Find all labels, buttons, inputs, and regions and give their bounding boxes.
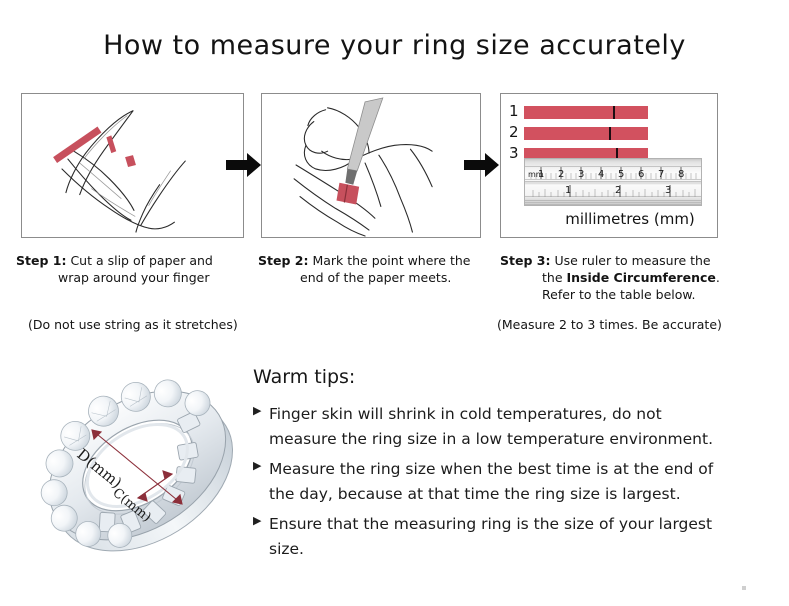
ruler-cm-tick-label: 4	[598, 169, 604, 180]
step-3-line1: Use ruler to measure the	[554, 253, 710, 268]
step-1-note: (Do not use string as it stretches)	[28, 317, 238, 332]
step-2-label: Step 2:	[258, 253, 308, 268]
step-3-note: (Measure 2 to 3 times. Be accurate)	[497, 317, 722, 332]
hand-with-paper-slip-icon	[22, 94, 243, 237]
ruler-inch-tick-label: 1	[565, 185, 571, 196]
arrow-step2-to-step3-icon	[464, 152, 500, 178]
strip-bar	[524, 106, 648, 119]
bullet-triangle-icon: ▶	[253, 512, 269, 526]
warm-tips-section: Warm tips: ▶ Finger skin will shrink in …	[253, 366, 733, 567]
tip-list-item: ▶ Measure the ring size when the best ti…	[253, 457, 733, 507]
ruler-cm-tick-label: 2	[558, 169, 564, 180]
tip-list-item: ▶ Ensure that the measuring ring is the …	[253, 512, 733, 562]
pen-shape	[345, 98, 382, 185]
ruler-cm-tick-label: 1	[538, 169, 544, 180]
strip-bar	[524, 127, 648, 140]
ruler-cm-tick-label: 8	[678, 169, 684, 180]
bullet-triangle-icon: ▶	[253, 457, 269, 471]
arrow-step1-to-step2-icon	[226, 152, 262, 178]
strip-number: 3	[509, 147, 519, 160]
step-2-line2: end of the paper meets.	[258, 269, 493, 286]
ruler-cm-tick-label: 5	[618, 169, 624, 180]
step-2-illustration-panel	[261, 93, 481, 238]
ring-diagram: D(mm) C(mm)	[32, 352, 247, 584]
ruler-inch-tick-label: 2	[615, 185, 621, 196]
inside-circumference-emphasis: Inside Circumference	[567, 270, 716, 285]
ruler-unit-label: millimetres (mm)	[501, 210, 718, 228]
ruler-inch-tick-label: 3	[665, 185, 671, 196]
ruler-graphic: mm 1 2 3 4 5 6 7 8 1 2 3	[524, 158, 702, 206]
step-3-line3: Refer to the table below.	[500, 286, 745, 303]
step-2-line1: Mark the point where the	[312, 253, 470, 268]
step-1-line1: Cut a slip of paper and	[70, 253, 212, 268]
strip-mark-tick	[609, 127, 611, 140]
strip-number: 2	[509, 126, 519, 139]
image-artifact-speck	[742, 586, 746, 590]
warm-tips-heading: Warm tips:	[253, 366, 733, 388]
step-1-caption: Step 1: Cut a slip of paper and wrap aro…	[16, 252, 256, 286]
step-3-line2-suffix: .	[716, 270, 720, 285]
step-3-caption: Step 3: Use ruler to measure the the Ins…	[500, 252, 745, 303]
tip-text: Finger skin will shrink in cold temperat…	[269, 402, 733, 452]
paper-band-shape	[336, 183, 359, 205]
step-3-line2-prefix: the	[542, 270, 567, 285]
ruler-cm-tick-label: 3	[578, 169, 584, 180]
tip-text: Ensure that the measuring ring is the si…	[269, 512, 733, 562]
paper-slip-shape	[53, 127, 136, 167]
step-3-label: Step 3:	[500, 253, 550, 268]
measured-strip-row: 2	[501, 127, 718, 140]
tip-text: Measure the ring size when the best time…	[269, 457, 733, 507]
bullet-triangle-icon: ▶	[253, 402, 269, 416]
ruler-cm-tick-label: 7	[658, 169, 664, 180]
ring-illustration-icon: D(mm) C(mm)	[32, 352, 247, 584]
tip-list-item: ▶ Finger skin will shrink in cold temper…	[253, 402, 733, 452]
step-2-caption: Step 2: Mark the point where the end of …	[258, 252, 493, 286]
ruler-cm-tick-label: 6	[638, 169, 644, 180]
page-title: How to measure your ring size accurately	[0, 30, 789, 61]
step-3-illustration-panel: 1 2 3	[500, 93, 718, 238]
hands-marking-paper-icon	[262, 94, 480, 237]
strip-number: 1	[509, 105, 519, 118]
measured-strip-row: 1	[501, 106, 718, 119]
strip-mark-tick	[613, 106, 615, 119]
step-1-illustration-panel	[21, 93, 244, 238]
step-1-line2: wrap around your finger	[16, 269, 256, 286]
step-1-label: Step 1:	[16, 253, 66, 268]
